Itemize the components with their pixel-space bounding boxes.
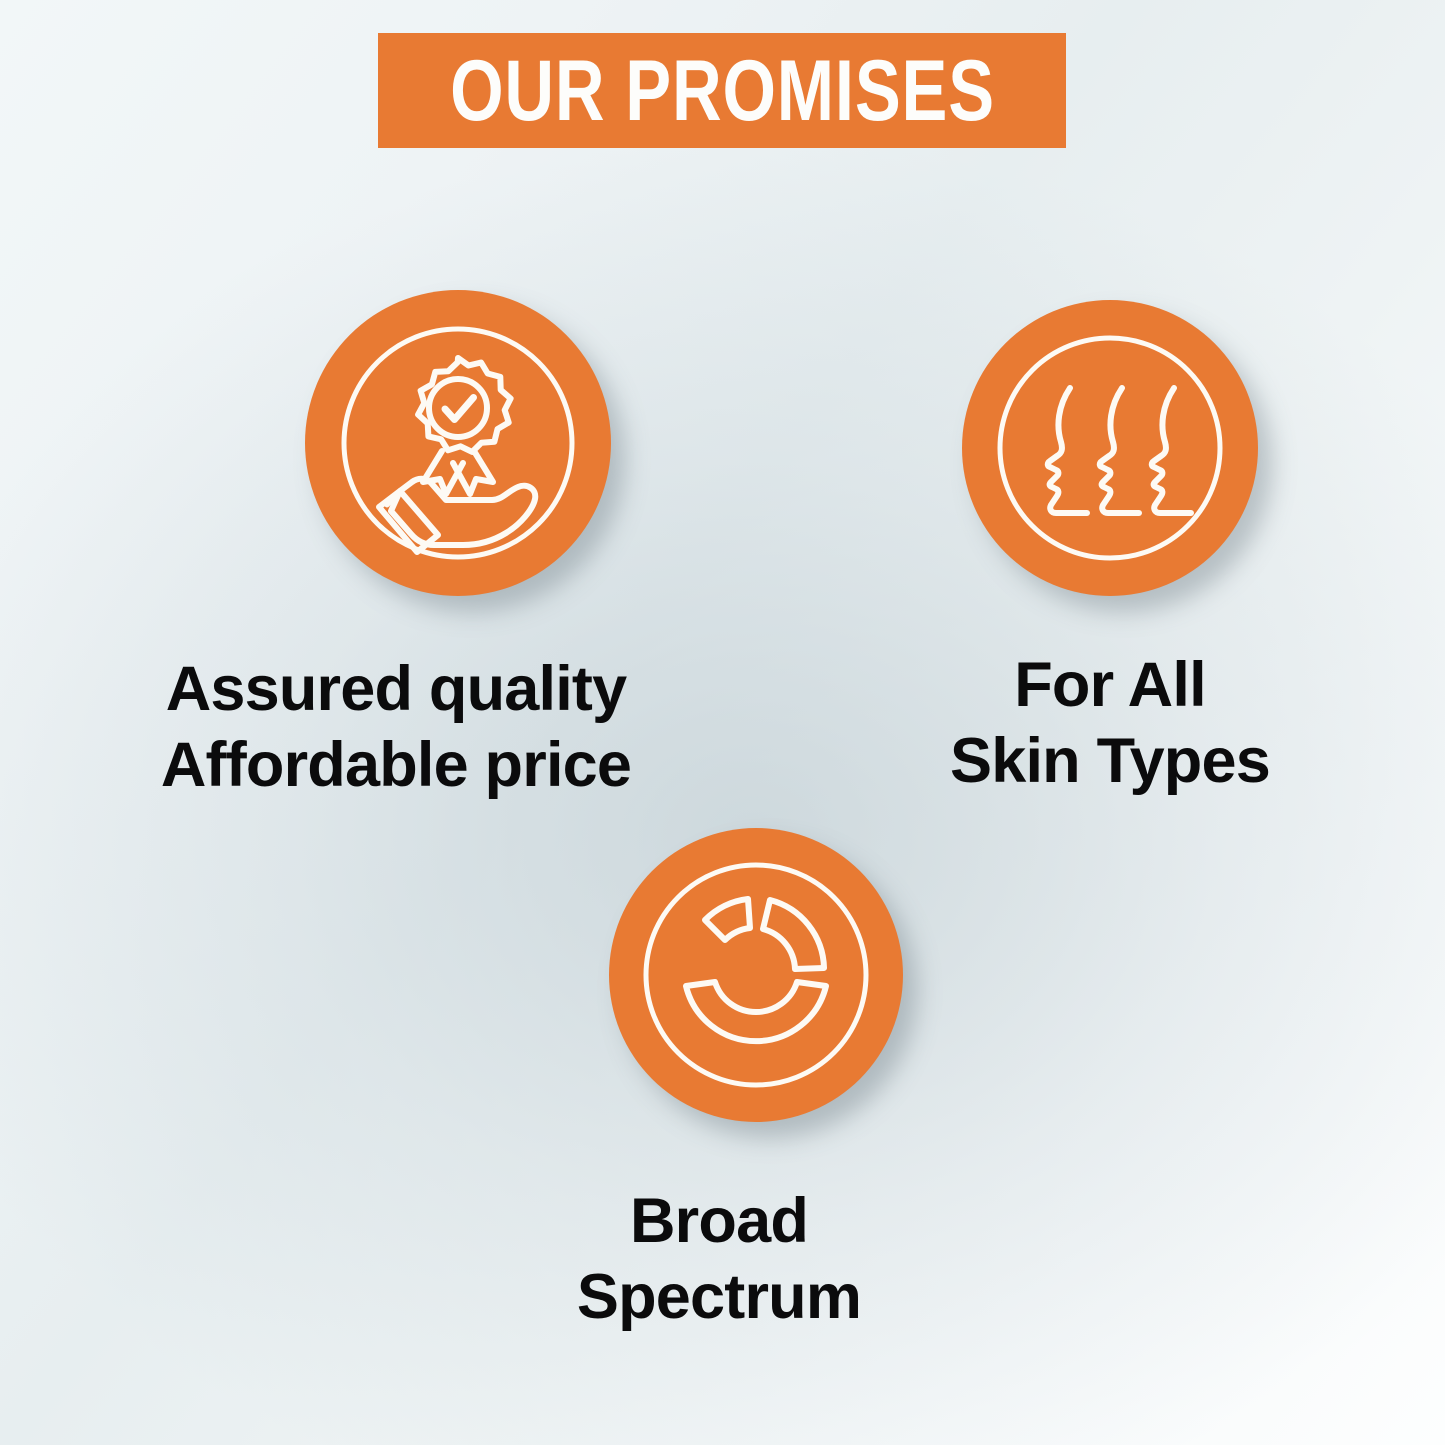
quality-badge-in-hand-icon: [305, 290, 611, 596]
page-title: OUR PROMISES: [450, 48, 995, 134]
promise-label-1: Assured quality Affordable price: [118, 652, 674, 803]
promise-item-all-skin-types: For All Skin Types: [900, 300, 1320, 799]
title-banner: OUR PROMISES: [378, 33, 1066, 148]
three-face-profiles-icon: [962, 300, 1258, 596]
promise-icon-circle-1: [305, 290, 611, 596]
promise-icon-circle-2: [962, 300, 1258, 596]
promise-label-3: Broad Spectrum: [498, 1184, 940, 1335]
promise-icon-circle-3: [609, 828, 903, 1122]
promise-label-2: For All Skin Types: [900, 648, 1320, 799]
promises-poster: OUR PROMISES: [0, 0, 1445, 1445]
promise-item-broad-spectrum: Broad Spectrum: [498, 828, 940, 1335]
segmented-donut-chart-icon: [609, 828, 903, 1122]
promise-item-assured-quality: Assured quality Affordable price: [118, 290, 674, 803]
